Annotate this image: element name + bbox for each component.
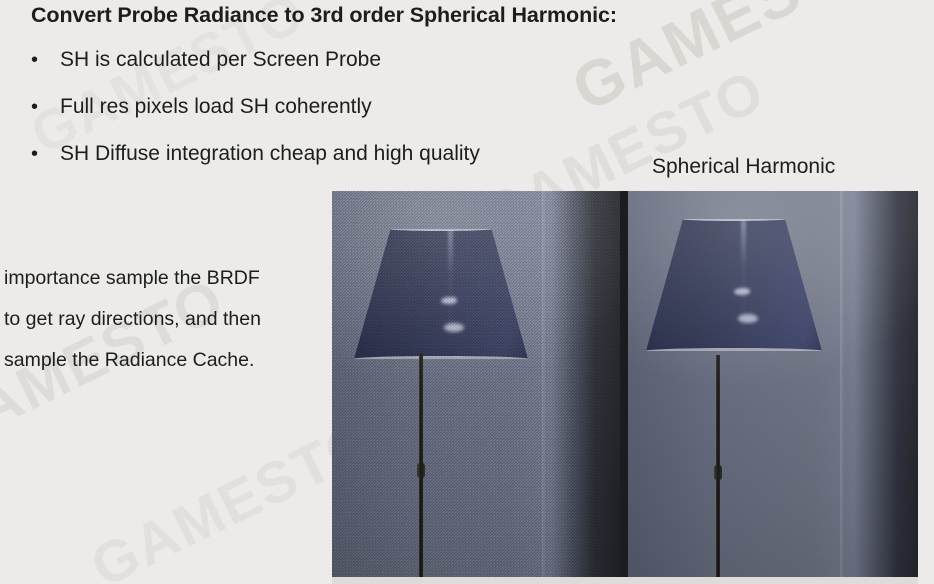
comparison-figure	[332, 191, 918, 584]
bullet-marker-icon: •	[31, 48, 60, 72]
body-paragraph: importance sample the BRDF to get ray di…	[4, 258, 329, 381]
bullet-label: Full res pixels load SH coherently	[60, 95, 372, 119]
figure-bottom-strip	[332, 577, 918, 584]
bullet-item: • SH Diffuse integration cheap and high …	[31, 142, 631, 189]
render-noise-overlay	[628, 191, 918, 577]
body-line: sample the Radiance Cache.	[4, 340, 329, 381]
render-pane-noisy-radiance	[332, 191, 620, 577]
body-line: importance sample the BRDF	[4, 258, 329, 299]
bullet-marker-icon: •	[31, 142, 60, 166]
bullet-list: • SH is calculated per Screen Probe • Fu…	[31, 48, 631, 189]
slide-title: Convert Probe Radiance to 3rd order Sphe…	[31, 2, 617, 28]
bullet-item: • SH is calculated per Screen Probe	[31, 48, 631, 95]
presentation-slide: GAMESTO GAMESTO GAMESTO GAMESTO GAMESTO …	[0, 0, 934, 584]
body-line: to get ray directions, and then	[4, 299, 329, 340]
pane-divider	[620, 191, 628, 577]
bullet-label: SH is calculated per Screen Probe	[60, 48, 381, 72]
bullet-marker-icon: •	[31, 95, 60, 119]
figure-caption-spherical-harmonic: Spherical Harmonic	[652, 154, 835, 180]
bullet-label: SH Diffuse integration cheap and high qu…	[60, 142, 480, 166]
render-pane-spherical-harmonic	[628, 191, 918, 577]
bullet-item: • Full res pixels load SH coherently	[31, 95, 631, 142]
render-noise-overlay	[332, 191, 620, 577]
